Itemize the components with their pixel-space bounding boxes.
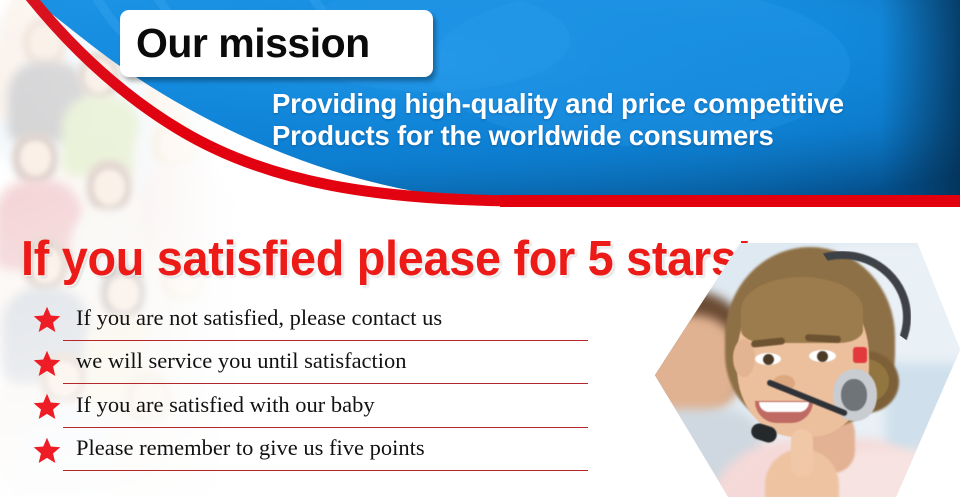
mission-statement-line-2: Products for the worldwide consumers xyxy=(272,120,952,152)
mission-title-box: Our mission xyxy=(120,10,433,77)
star-icon xyxy=(32,349,62,378)
list-item-underline xyxy=(63,427,588,428)
list-item-label: we will service you until satisfaction xyxy=(67,350,407,373)
list-item-underline xyxy=(63,383,588,384)
list-item: we will service you until satisfaction xyxy=(32,342,592,386)
call-center-agent-photo xyxy=(655,243,960,497)
promise-list: If you are not satisfied, please contact… xyxy=(32,298,592,472)
list-item: Please remember to give us five points xyxy=(32,429,592,473)
mission-statement-line-1: Providing high-quality and price competi… xyxy=(272,88,952,120)
list-item-label: Please remember to give us five points xyxy=(67,437,425,460)
list-item-label: If you are not satisfied, please contact… xyxy=(67,307,442,330)
list-item-underline xyxy=(63,340,588,341)
star-icon xyxy=(32,305,62,334)
page-title: Our mission xyxy=(136,23,370,64)
list-item: If you are not satisfied, please contact… xyxy=(32,298,592,342)
mission-statement: Providing high-quality and price competi… xyxy=(272,88,952,152)
promotional-banner: Our mission Providing high-quality and p… xyxy=(0,0,960,497)
star-icon xyxy=(32,436,62,465)
list-item-underline xyxy=(63,470,588,471)
list-item: If you are satisfied with our baby xyxy=(32,385,592,429)
list-item-label: If you are satisfied with our baby xyxy=(67,394,375,417)
rating-request-headline: If you satisfied please for 5 stars! xyxy=(21,231,752,287)
star-icon xyxy=(32,392,62,421)
